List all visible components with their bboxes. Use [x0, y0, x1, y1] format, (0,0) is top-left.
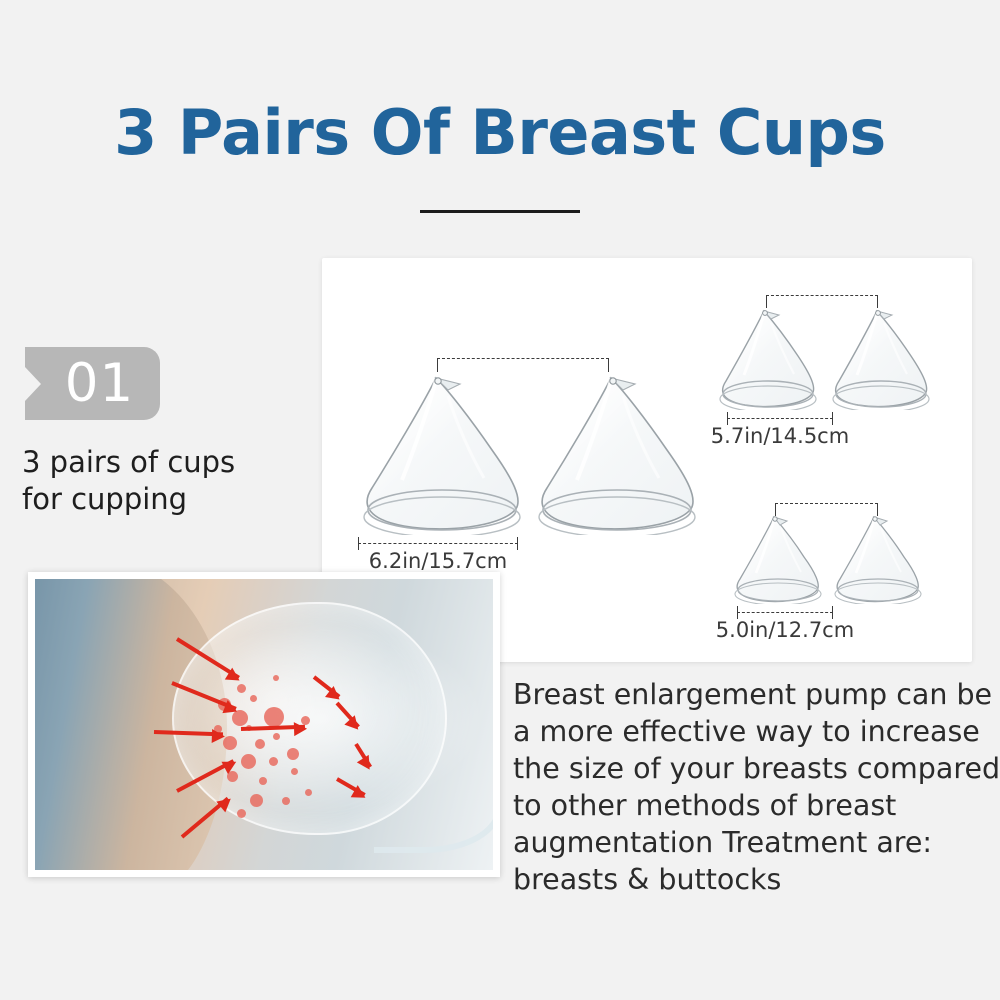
feature-caption-line1: 3 pairs of cups [22, 444, 312, 481]
cup-medium-left [713, 305, 821, 410]
flow-dot [237, 809, 246, 818]
flow-dot [305, 789, 312, 796]
feature-caption-line2: for cupping [22, 481, 312, 518]
dimension-tick-right [517, 537, 518, 550]
product-infographic-page: 3 Pairs Of Breast Cups [0, 0, 1000, 1000]
dimension-line [775, 503, 878, 504]
flow-dot [255, 739, 265, 749]
dimension-tick-left [437, 358, 438, 372]
page-title: 3 Pairs Of Breast Cups [0, 96, 1000, 169]
flow-dot [223, 736, 237, 750]
flow-dot [269, 757, 278, 766]
illustration-card [28, 572, 500, 877]
feature-caption: 3 pairs of cups for cupping [22, 444, 312, 518]
dimension-tick-right [877, 295, 878, 308]
cupping-illustration-image [35, 579, 493, 870]
dimension-tick-left [358, 537, 359, 550]
description-paragraph: Breast enlargement pump can be a more ef… [513, 676, 1000, 898]
cup-large-right [527, 370, 705, 535]
badge-number: 01 [51, 357, 134, 410]
dimension-label-small: 5.0in/12.7cm [716, 618, 854, 642]
dimension-tick-right [608, 358, 609, 372]
dimension-tick-right [877, 503, 878, 516]
dimension-medium: 5.7in/14.5cm [727, 418, 833, 458]
flow-dot [241, 754, 256, 769]
dimension-line [766, 295, 878, 296]
dimension-bracket-medium-top [766, 295, 878, 308]
title-divider [420, 210, 580, 213]
dimension-line [358, 543, 518, 544]
dimension-label-large: 6.2in/15.7cm [369, 549, 507, 573]
dimension-bracket-small-top [775, 503, 878, 516]
cup-small-right [829, 512, 925, 604]
cup-medium-right [826, 305, 934, 410]
dimension-bracket-large-top [437, 358, 609, 372]
badge-notch-icon [25, 367, 41, 401]
step-badge-01: 01 [25, 347, 160, 420]
flow-dot [287, 748, 299, 760]
cup-large-left [352, 370, 530, 535]
dimension-label-medium: 5.7in/14.5cm [711, 424, 849, 448]
dimension-line [737, 612, 833, 613]
flow-dot [264, 707, 284, 727]
dimension-tick-left [766, 295, 767, 308]
cup-small-left [729, 512, 825, 604]
flow-dot [237, 684, 246, 693]
dimension-small: 5.0in/12.7cm [737, 612, 833, 652]
suction-tube-shape [374, 777, 493, 853]
dimension-line [437, 358, 609, 359]
dimension-tick-left [775, 503, 776, 516]
dimension-line [727, 418, 833, 419]
